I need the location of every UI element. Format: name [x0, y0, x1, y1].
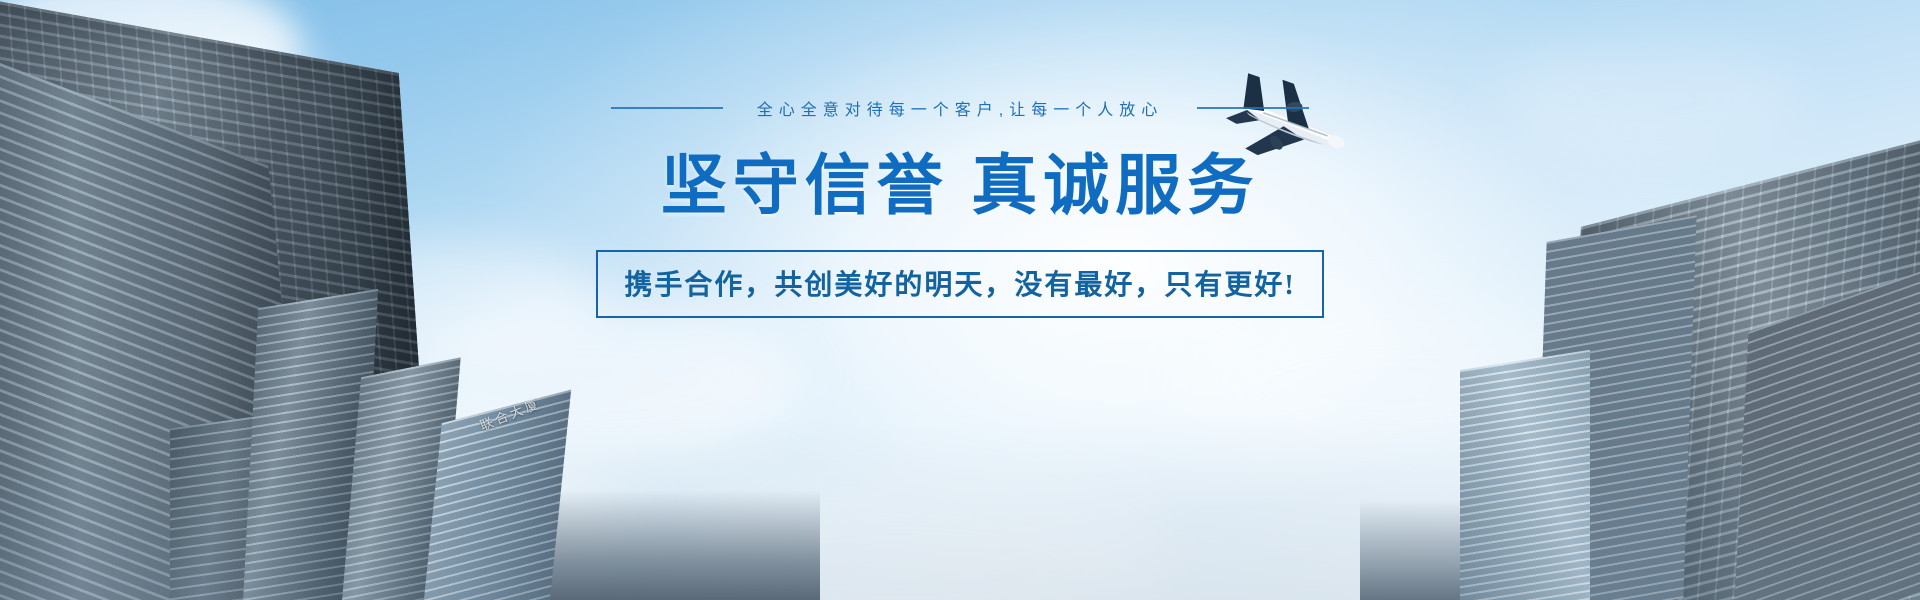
- tagline-rule-left: [611, 107, 723, 109]
- building-left-tower-1: [242, 289, 378, 600]
- city-band-right: [1360, 500, 1920, 600]
- building-left-tower-2: [339, 357, 460, 600]
- tagline-text: 全心全意对待每一个客户,让每一个人放心: [757, 96, 1163, 120]
- headline-text: 坚守信誉 真诚服务: [661, 150, 1260, 224]
- hero-banner: 联合大厦: [0, 0, 1920, 600]
- building-name-label: 联合大厦: [477, 393, 543, 435]
- cloud-shape: [380, 300, 800, 470]
- building-right-tower-2: [1460, 350, 1590, 600]
- city-band-left: [0, 490, 820, 600]
- tagline-row: 全心全意对待每一个客户,让每一个人放心: [611, 96, 1309, 120]
- subtitle-box: 携手合作，共创美好的明天，没有最好，只有更好!: [596, 250, 1323, 318]
- cloud-shape: [1180, 300, 1600, 470]
- building-left-tower-3: [419, 390, 571, 600]
- hero-text-block: 全心全意对待每一个客户,让每一个人放心 坚守信誉 真诚服务 携手合作，共创美好的…: [0, 96, 1920, 318]
- building-left-tower-4: [170, 412, 290, 600]
- cloud-shape: [640, 470, 1160, 600]
- subtitle-text: 携手合作，共创美好的明天，没有最好，只有更好!: [624, 263, 1295, 303]
- cloud-shape: [120, 430, 640, 600]
- tagline-rule-right: [1197, 107, 1309, 109]
